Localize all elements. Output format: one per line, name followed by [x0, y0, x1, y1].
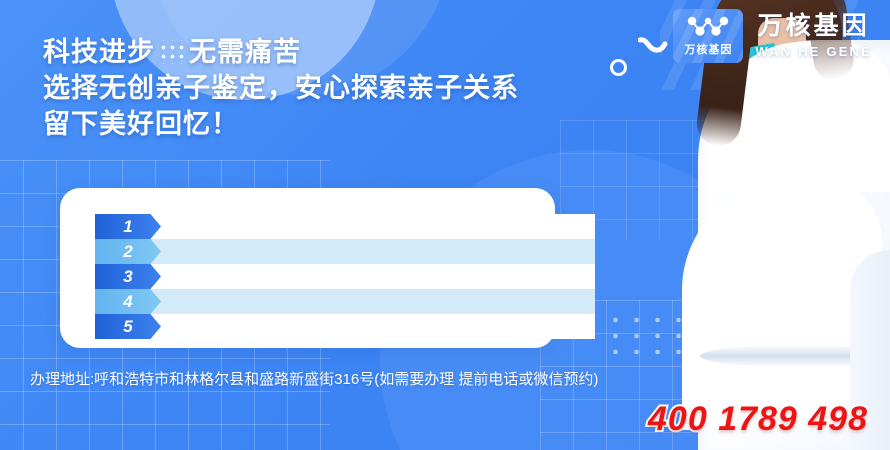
feature-number-badge: 1 [95, 214, 161, 239]
headline-line-1-part-1: 科技进步 [43, 34, 155, 70]
list-item: 4 准确:检测13000个位点，与出生之后鉴定结果一致 [40, 289, 840, 314]
feature-number-badge: 2 [95, 239, 161, 264]
list-item: 1 结果早知道:孕五周起即可检测 [40, 214, 840, 239]
feature-number: 5 [123, 317, 132, 337]
headline-line-1-part-2: 无需痛苦 [189, 34, 301, 70]
feature-number-badge: 5 [95, 314, 161, 339]
brand-logo[interactable]: 万核基因 万核基因 WAN HE GENE [673, 9, 872, 63]
headline-line-2: 选择无创亲子鉴定，安心探索亲子关系 [43, 70, 519, 106]
row-background [135, 289, 595, 314]
headline-block: 科技进步 无需痛苦 选择无创亲子鉴定，安心探索亲子关系 留下美好回忆！ [43, 34, 519, 142]
brand-name-en: WAN HE GENE [755, 45, 872, 58]
feature-number-badge: 3 [95, 264, 161, 289]
headline-line-3: 留下美好回忆！ [43, 106, 519, 142]
address-text: 办理地址:呼和浩特市和林格尔县和盛路新盛街316号(如需要办理 提前电话或微信预… [30, 368, 598, 389]
brand-name-cn: 万核基因 [758, 14, 870, 39]
feature-number: 4 [123, 292, 132, 312]
feature-number: 2 [123, 242, 132, 262]
row-background [135, 214, 595, 239]
list-item: 3 快速:48小时即可出结果(加急)，正常3-5个工作日 [40, 264, 840, 289]
circle-ring-icon [610, 59, 627, 76]
list-item: 2 安全:仅抽取母体10ml外周血，无感染和流产风险 [40, 239, 840, 264]
row-background [135, 264, 595, 289]
logo-mark: 万核基因 [673, 9, 743, 63]
row-background [135, 314, 595, 339]
dna-molecule-icon [685, 15, 731, 39]
feature-number: 1 [123, 217, 132, 237]
headline-line-1: 科技进步 无需痛苦 [43, 34, 519, 70]
feature-number: 3 [123, 267, 132, 287]
feature-list: 1 结果早知道:孕五周起即可检测 2 安全:仅抽取母体10ml外周血，无感染和流… [40, 214, 840, 339]
phone-number[interactable]: 400 1789 498 [648, 400, 868, 439]
feature-number-badge: 4 [95, 289, 161, 314]
logo-text: 万核基因 WAN HE GENE [755, 14, 872, 58]
row-background [135, 239, 595, 264]
promo-banner: 万核基因 万核基因 WAN HE GENE 科技进步 无需痛苦 选择无创亲子鉴定… [0, 0, 890, 450]
logo-mark-label: 万核基因 [684, 41, 732, 57]
dotted-divider-icon [159, 40, 187, 64]
list-item: 5 省心 :支持男方特殊样本(指甲、毛发、牙刷、烟蒂、口香糖、精斑等) [40, 314, 840, 339]
